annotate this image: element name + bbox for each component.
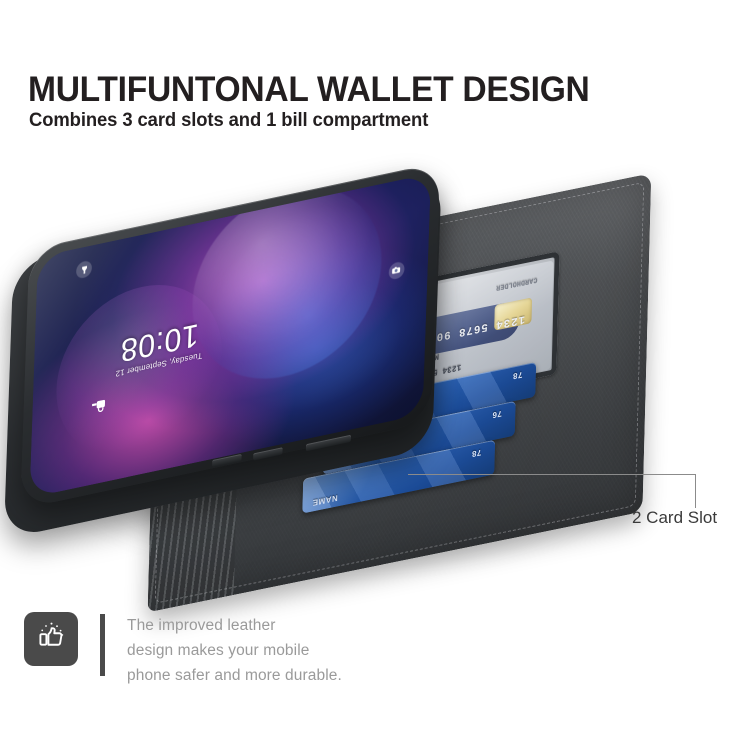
callout-label-card-slot: 2 Card Slot (632, 508, 717, 528)
callout-leader-line-vertical (695, 474, 696, 508)
page-subtitle: Combines 3 card slots and 1 bill compart… (29, 110, 428, 132)
feature-divider (100, 614, 105, 676)
feature-line-1: The improved leather (127, 613, 342, 638)
feature-badge (24, 612, 78, 666)
product-infographic: MULTIFUNTONAL WALLET DESIGN Combines 3 c… (0, 0, 750, 750)
feature-block: The improved leather design makes your m… (24, 612, 342, 688)
page-title: MULTIFUNTONAL WALLET DESIGN (28, 70, 590, 110)
thumbs-up-icon (35, 620, 68, 658)
feature-line-2: design makes your mobile (127, 638, 342, 663)
callout-leader-line-horizontal (408, 474, 696, 475)
product-image: 1234 5678 9012 MM/DD 1234 5678 CARDHOLDE… (0, 170, 750, 600)
feature-line-3: phone safer and more durable. (127, 663, 342, 688)
feature-description: The improved leather design makes your m… (127, 612, 342, 688)
